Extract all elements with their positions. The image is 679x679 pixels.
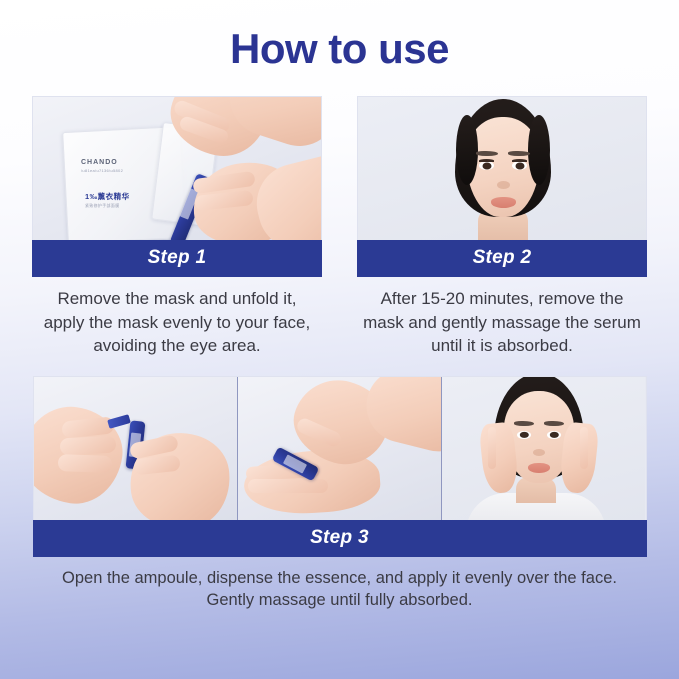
step-1-caption: Remove the mask and unfold it, apply the… xyxy=(32,277,322,357)
sachet-product-name-label: 1‰薰衣精华 xyxy=(85,191,130,202)
panel-3-lips xyxy=(528,463,550,473)
panel-3-nose xyxy=(533,449,545,456)
step-card-1: CHANDO \u81ea\u7136\u5802 1‰薰衣精华 紧致修护手部面… xyxy=(32,96,322,357)
panel-3-eye-left xyxy=(517,431,531,439)
portrait-eyelid-left xyxy=(479,159,494,162)
step-2-caption: After 15-20 minutes, remove the mask and… xyxy=(357,277,647,357)
sachet-product-sub-label: 紧致修护手部面膜 xyxy=(85,203,119,209)
step-3-panel-2 xyxy=(238,377,442,520)
portrait-hair-right xyxy=(528,115,550,185)
steps-top-row: CHANDO \u81ea\u7136\u5802 1‰薰衣精华 紧致修护手部面… xyxy=(0,96,679,357)
page-title: How to use xyxy=(0,0,679,72)
panel-3-brow-left xyxy=(514,421,534,426)
portrait-eyelid-right xyxy=(512,159,527,162)
step-2-image xyxy=(357,96,647,240)
panel-2-palm-finger-2 xyxy=(248,479,328,493)
step-card-2: Step 2 After 15-20 minutes, remove the m… xyxy=(357,96,647,357)
step-2-banner: Step 2 xyxy=(357,240,647,277)
sachet-brand-sub-label: \u81ea\u7136\u5802 xyxy=(81,168,123,173)
step-3-caption: Open the ampoule, dispense the essence, … xyxy=(40,557,640,613)
panel-3-finger-left xyxy=(488,427,496,469)
step-1-image: CHANDO \u81ea\u7136\u5802 1‰薰衣精华 紧致修护手部面… xyxy=(32,96,322,240)
panel-1-finger-left-3 xyxy=(57,454,112,473)
step-card-3: Step 3 Open the ampoule, dispense the es… xyxy=(33,376,647,613)
panel-3-brow-right xyxy=(544,421,564,426)
portrait-hair-left xyxy=(456,115,478,185)
panel-3-eye-right xyxy=(547,431,561,439)
panel-3-finger-right xyxy=(580,427,588,469)
step-3-panel-1 xyxy=(34,377,238,520)
step-3-image-strip xyxy=(33,376,647,520)
sachet-brand-label: CHANDO xyxy=(81,159,118,166)
step-3-banner: Step 3 xyxy=(33,520,647,557)
panel-1-finger-left-2 xyxy=(59,435,116,455)
step-3-panel-3 xyxy=(442,377,645,520)
step-1-banner: Step 1 xyxy=(32,240,322,277)
